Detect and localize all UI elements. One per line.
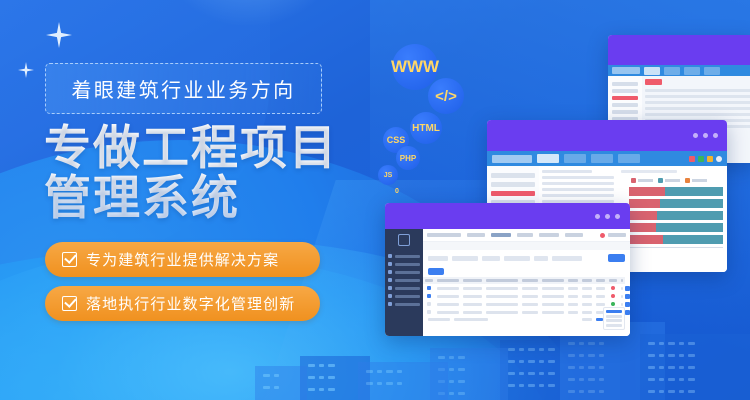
table-column-header[interactable] xyxy=(423,277,435,284)
notification-badge[interactable] xyxy=(600,233,605,238)
table-cell-value xyxy=(522,303,538,306)
total-summary xyxy=(454,318,488,321)
building-window-row xyxy=(568,342,604,345)
building-window-row xyxy=(438,356,465,359)
search-input[interactable] xyxy=(552,256,582,261)
table-column-header[interactable] xyxy=(594,277,606,284)
building-window xyxy=(397,370,402,373)
status-dot-icon xyxy=(611,286,615,290)
app-logo-icon xyxy=(398,234,410,246)
building-window xyxy=(539,384,544,387)
building-window xyxy=(528,372,535,375)
top-header xyxy=(423,229,630,242)
table-cell xyxy=(540,284,566,292)
table-column-header[interactable] xyxy=(580,277,594,284)
table-column-header[interactable] xyxy=(607,277,619,284)
checkbox-icon xyxy=(427,310,431,314)
sidebar-item[interactable] xyxy=(612,89,638,93)
sidebar-nav[interactable] xyxy=(385,229,423,336)
building-window xyxy=(328,388,335,391)
building-window xyxy=(458,368,465,371)
table-cell xyxy=(580,300,594,308)
building-window xyxy=(679,390,684,393)
building-window xyxy=(688,378,695,381)
tab-item[interactable] xyxy=(644,67,660,75)
building-window xyxy=(659,342,664,345)
building-window xyxy=(679,378,684,381)
table-cell-value xyxy=(522,311,538,314)
building-window-row xyxy=(366,382,402,385)
status-badge xyxy=(607,292,619,300)
table-cell-value xyxy=(582,311,592,314)
tech-bubble-html: HTML xyxy=(410,112,442,144)
list-row xyxy=(645,89,750,92)
table-cell-value xyxy=(596,303,604,306)
table-cell-value xyxy=(582,287,592,290)
chart-legend-swatch xyxy=(631,178,636,183)
menu-icon xyxy=(388,270,392,274)
window-header-tabs xyxy=(487,151,727,166)
checkbox-icon xyxy=(427,294,431,298)
building-window xyxy=(648,378,655,381)
window-dot-icon xyxy=(713,133,718,138)
table-column-header-label xyxy=(437,279,459,282)
tab-item[interactable] xyxy=(537,154,559,163)
chart-bar-segment-completed xyxy=(629,187,665,196)
building-window xyxy=(659,378,664,381)
building-window xyxy=(328,376,335,379)
user-account-menu[interactable] xyxy=(608,233,626,237)
table-cell xyxy=(484,308,520,316)
building-window xyxy=(648,390,655,393)
building-window xyxy=(668,366,675,369)
window-dot-icon xyxy=(615,214,620,219)
sidebar-item[interactable] xyxy=(612,103,638,107)
table-cell-value xyxy=(568,287,578,290)
feature-pill-1-label: 专为建筑行业提供解决方案 xyxy=(86,249,279,270)
sidebar-item[interactable] xyxy=(491,182,535,187)
menu-icon xyxy=(388,286,392,290)
tech-bubble-: </> xyxy=(428,78,464,114)
building-window-row xyxy=(366,370,402,373)
table-cell-value xyxy=(437,311,459,314)
header-status-icons[interactable] xyxy=(689,156,722,162)
building-window xyxy=(519,360,524,363)
table-cell xyxy=(580,284,594,292)
table-cell xyxy=(566,300,580,308)
table-cell-value xyxy=(522,287,538,290)
building-window xyxy=(599,378,604,381)
selection-summary xyxy=(428,318,450,321)
building-window-row xyxy=(308,388,335,391)
table-column-header[interactable] xyxy=(540,277,566,284)
header-menu-item[interactable] xyxy=(517,233,533,237)
building-window xyxy=(588,342,595,345)
tab-item[interactable] xyxy=(704,67,720,75)
building-window xyxy=(386,370,393,373)
table-cell-value xyxy=(568,295,578,298)
table-column-header-label xyxy=(486,279,518,282)
building-window xyxy=(519,348,524,351)
building-window-row xyxy=(568,366,604,369)
building-window xyxy=(588,390,595,393)
table-row[interactable] xyxy=(423,292,630,300)
building-window xyxy=(568,390,575,393)
building-window xyxy=(579,342,584,345)
building-window xyxy=(668,342,675,345)
sidebar-item-label xyxy=(395,287,420,290)
building-window xyxy=(528,360,535,363)
chart-legend-label xyxy=(638,179,653,182)
sidebar-item[interactable] xyxy=(385,276,423,284)
building-window xyxy=(688,354,695,357)
building-window xyxy=(668,354,675,357)
tech-bubble-label: HTML xyxy=(412,123,440,134)
header-menu-item[interactable] xyxy=(539,233,559,237)
list-row xyxy=(542,170,592,173)
chart-bar-segment-inprogress xyxy=(663,235,723,244)
table-cell-value xyxy=(463,287,481,290)
sidebar-item[interactable] xyxy=(612,110,638,114)
feature-pill-2[interactable]: 落地执行行业数字化管理创新 xyxy=(45,286,320,321)
tech-bubble-0: 0 xyxy=(390,184,404,198)
row-actions[interactable] xyxy=(625,308,630,316)
list-row xyxy=(542,176,614,179)
building-window-row xyxy=(308,364,335,367)
table-cell xyxy=(540,292,566,300)
chart-bar-row xyxy=(629,187,723,196)
menu-icon xyxy=(388,278,392,282)
table-cell xyxy=(520,284,540,292)
building-window-row xyxy=(263,374,279,377)
building-window xyxy=(386,382,393,385)
table-cell-value xyxy=(542,303,564,306)
building-window-row xyxy=(308,376,335,379)
tech-bubble-www: WWW xyxy=(392,44,438,90)
building-window xyxy=(679,342,684,345)
context-menu-item-selected[interactable] xyxy=(606,310,622,313)
table-column-header-label xyxy=(542,279,564,282)
sidebar-item-label xyxy=(395,295,420,298)
chart-bar-row xyxy=(629,199,723,208)
building-window xyxy=(528,348,535,351)
chart-bar-segment-inprogress xyxy=(656,223,723,232)
building-window xyxy=(508,372,515,375)
building-silhouette xyxy=(640,334,750,400)
delete-button[interactable] xyxy=(645,79,662,85)
building-window xyxy=(548,384,555,387)
building-window xyxy=(319,388,324,391)
table-column-header[interactable] xyxy=(435,277,461,284)
building-window-row xyxy=(648,366,695,369)
chart-bar-row xyxy=(629,235,723,244)
chart-legend-label xyxy=(665,179,680,182)
building-window xyxy=(449,368,454,371)
header-menu-item[interactable] xyxy=(565,233,583,237)
chart-bar-segment-completed xyxy=(629,199,660,208)
header-menu-item-active[interactable] xyxy=(491,233,511,237)
context-menu-item[interactable] xyxy=(606,319,622,322)
table-cell-value xyxy=(621,287,623,290)
chart-bar-row xyxy=(629,211,723,220)
alert-icon[interactable] xyxy=(689,156,695,162)
table-cell-value xyxy=(486,311,518,314)
building-window xyxy=(648,354,655,357)
subtitle-box: 着眼建筑行业业务方向 xyxy=(45,63,322,114)
building-silhouette xyxy=(255,366,307,400)
checkbox-checked-icon xyxy=(62,252,77,267)
table-cell-value xyxy=(437,287,459,290)
window-body xyxy=(385,229,630,336)
tab-item[interactable] xyxy=(684,67,700,75)
building-window xyxy=(449,356,454,359)
feature-pill-2-label: 落地执行行业数字化管理创新 xyxy=(86,293,295,314)
building-window-row xyxy=(648,342,695,345)
warning-icon[interactable] xyxy=(707,156,713,162)
table-column-header-label xyxy=(582,279,592,282)
status-dot-icon xyxy=(611,294,615,298)
building-window xyxy=(438,356,445,359)
chart-legend-label xyxy=(692,179,707,182)
building-window xyxy=(397,382,402,385)
sidebar-item[interactable] xyxy=(385,300,423,308)
table-column-header[interactable] xyxy=(520,277,540,284)
list-row xyxy=(645,101,750,104)
tech-bubble-label: CSS xyxy=(387,135,406,145)
sidebar-item-selected[interactable] xyxy=(612,96,638,100)
table-cell xyxy=(580,308,594,316)
table-column-header-label xyxy=(568,279,578,282)
filter-select[interactable] xyxy=(504,256,530,261)
chart-bar-segment-inprogress xyxy=(657,211,723,220)
sidebar-item[interactable] xyxy=(385,292,423,300)
table-cell xyxy=(461,308,483,316)
chart-legend-swatch xyxy=(658,178,663,183)
building-window-row xyxy=(648,354,695,357)
table-cell-value xyxy=(542,311,564,314)
building-window xyxy=(328,364,335,367)
building-window xyxy=(449,380,454,383)
row-checkbox[interactable] xyxy=(423,300,435,308)
table-cell xyxy=(520,308,540,316)
building-window xyxy=(508,360,515,363)
sidebar-item[interactable] xyxy=(385,252,423,260)
table-cell-value xyxy=(437,303,459,306)
window-dot-icon xyxy=(703,133,708,138)
building-window xyxy=(539,360,544,363)
status-badge xyxy=(607,284,619,292)
tech-bubble-label: JS xyxy=(384,172,393,179)
row-checkbox[interactable] xyxy=(423,308,435,316)
table-cell-value xyxy=(437,295,459,298)
edit-icon[interactable] xyxy=(625,294,630,299)
header-menu-item[interactable] xyxy=(467,233,485,237)
building-window xyxy=(319,364,324,367)
pagination-page[interactable] xyxy=(596,318,603,321)
filter-label xyxy=(428,256,448,261)
sidebar-item-selected[interactable] xyxy=(491,191,535,196)
row-checkbox[interactable] xyxy=(423,292,435,300)
table-column-header-label xyxy=(522,279,538,282)
table-cell-value xyxy=(542,295,564,298)
sidebar-item[interactable] xyxy=(612,82,638,86)
tab-item[interactable] xyxy=(564,154,586,163)
table-column-header[interactable] xyxy=(484,277,520,284)
building-window xyxy=(458,392,465,395)
building-window xyxy=(366,370,373,373)
sidebar-item[interactable] xyxy=(385,268,423,276)
checkbox-icon xyxy=(427,286,431,290)
table-footer xyxy=(423,316,630,323)
building-window xyxy=(648,342,655,345)
app-logo xyxy=(492,155,532,163)
row-checkbox[interactable] xyxy=(423,284,435,292)
table-cell-value xyxy=(522,295,538,298)
edit-icon[interactable] xyxy=(625,286,630,291)
table-cell-value xyxy=(621,295,623,298)
building-window xyxy=(599,342,604,345)
table-cell xyxy=(435,300,461,308)
building-window xyxy=(659,366,664,369)
table-cell-value xyxy=(542,287,564,290)
feature-pill-1[interactable]: 专为建筑行业提供解决方案 xyxy=(45,242,320,277)
building-window xyxy=(274,374,279,377)
table-cell xyxy=(484,284,520,292)
table-cell-value xyxy=(582,295,592,298)
building-window xyxy=(648,366,655,369)
window-titlebar xyxy=(608,35,750,65)
building-window xyxy=(528,384,535,387)
edit-icon[interactable] xyxy=(625,310,630,315)
building-window xyxy=(659,354,664,357)
table-cell xyxy=(540,308,566,316)
building-window xyxy=(539,372,544,375)
building-window xyxy=(688,390,695,393)
window-dot-icon xyxy=(693,133,698,138)
context-menu[interactable] xyxy=(603,307,625,331)
building-silhouette xyxy=(358,362,448,400)
tech-bubble-label: PHP xyxy=(400,154,416,163)
window-titlebar xyxy=(487,120,727,151)
building-window xyxy=(659,390,664,393)
sidebar-item-label xyxy=(395,303,420,306)
building-window xyxy=(458,380,465,383)
chart-legend-item[interactable] xyxy=(658,178,680,183)
context-menu-item[interactable] xyxy=(606,315,622,318)
headline-line-1: 专做工程项目 xyxy=(44,123,374,173)
window-dot-icon xyxy=(595,214,600,219)
table-cell-value xyxy=(568,311,578,314)
building-window-row xyxy=(648,378,695,381)
building-window xyxy=(568,378,575,381)
chart-panel xyxy=(617,166,727,272)
avatar[interactable] xyxy=(716,156,722,162)
chart-bar-segment-completed xyxy=(629,211,657,220)
building-window-row xyxy=(508,360,555,363)
table-cell-value xyxy=(582,303,592,306)
list-row xyxy=(645,95,750,98)
tab-item[interactable] xyxy=(618,154,640,163)
checkbox-icon xyxy=(427,302,431,306)
table-cell xyxy=(520,300,540,308)
building-window xyxy=(548,372,555,375)
success-icon[interactable] xyxy=(698,156,704,162)
chart-bar-segment-inprogress xyxy=(660,199,723,208)
table-cell-value xyxy=(568,303,578,306)
table-cell xyxy=(461,292,483,300)
sidebar-item[interactable] xyxy=(385,260,423,268)
tab-item[interactable] xyxy=(591,154,613,163)
table-cell-value xyxy=(486,295,518,298)
table-row[interactable] xyxy=(423,284,630,292)
tech-bubble-php: PHP xyxy=(396,146,420,170)
chart-bar-row xyxy=(629,223,723,232)
main-content xyxy=(423,229,630,336)
building-window-row xyxy=(568,390,604,393)
table-cell-value xyxy=(621,303,623,306)
row-actions[interactable] xyxy=(625,284,630,292)
table-cell-value xyxy=(486,303,518,306)
sidebar-item[interactable] xyxy=(491,173,535,178)
add-button[interactable] xyxy=(428,268,444,275)
building-window xyxy=(568,342,575,345)
filter-select[interactable] xyxy=(452,256,478,261)
table-cell xyxy=(540,300,566,308)
table-column-header-label xyxy=(621,279,623,282)
building-window xyxy=(679,354,684,357)
table-cell xyxy=(435,292,461,300)
table-column-header[interactable] xyxy=(461,277,483,284)
building-window xyxy=(579,378,584,381)
window-dot-icon xyxy=(605,214,610,219)
table-column-header[interactable] xyxy=(566,277,580,284)
headline-line-2: 管理系统 xyxy=(44,173,374,223)
sidebar-item[interactable] xyxy=(385,284,423,292)
table-row[interactable] xyxy=(423,300,630,308)
pagination-prev[interactable] xyxy=(582,318,592,321)
building-window xyxy=(679,366,684,369)
building-window-row xyxy=(263,386,279,389)
building-window xyxy=(568,366,575,369)
table-cell xyxy=(435,284,461,292)
sidebar-item-label xyxy=(395,255,420,258)
status-dot-icon xyxy=(611,302,615,306)
chart-bar-segment-completed xyxy=(629,223,656,232)
tab-item[interactable] xyxy=(664,67,680,75)
chart-legend-item[interactable] xyxy=(685,178,707,183)
edit-icon[interactable] xyxy=(625,302,630,307)
chart-legend-item[interactable] xyxy=(631,178,653,183)
building-window xyxy=(668,390,675,393)
table-cell xyxy=(461,284,483,292)
list-row xyxy=(542,188,614,191)
building-window xyxy=(274,386,279,389)
menu-icon xyxy=(388,294,392,298)
table-column-header[interactable] xyxy=(619,277,625,284)
context-menu-item[interactable] xyxy=(606,324,622,327)
row-actions[interactable] xyxy=(625,292,630,300)
project-list-window-front[interactable] xyxy=(385,203,630,336)
table-cell-value xyxy=(463,295,481,298)
table-cell xyxy=(435,308,461,316)
table-row[interactable] xyxy=(423,308,630,316)
building-window-row xyxy=(508,384,555,387)
building-window xyxy=(319,376,324,379)
row-actions[interactable] xyxy=(625,300,630,308)
search-button[interactable] xyxy=(608,254,625,262)
menu-icon xyxy=(388,254,392,258)
app-logo xyxy=(612,67,640,74)
